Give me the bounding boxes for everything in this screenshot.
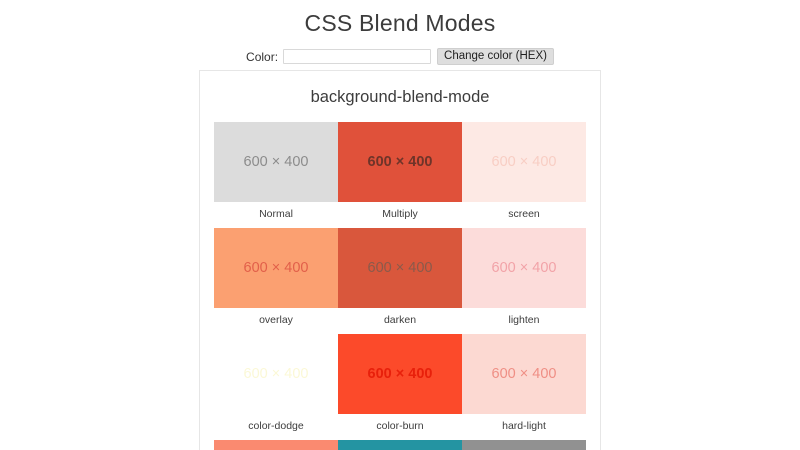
blend-row: 600 × 400 overlay 600 × 400 darken 600 ×… [214, 228, 586, 334]
swatch-clipped-3: 600 × 400 [462, 440, 586, 450]
swatch-multiply: 600 × 400 [338, 122, 462, 202]
swatch-caption-normal: Normal [214, 202, 338, 228]
swatch-caption-overlay: overlay [214, 308, 338, 334]
blend-row: 600 × 400 Normal 600 × 400 Multiply 600 … [214, 122, 586, 228]
swatch-caption-color-burn: color-burn [338, 414, 462, 440]
blend-cell-overlay: 600 × 400 overlay [214, 228, 338, 334]
swatch-clipped-2: 600 × 400 [338, 440, 462, 450]
blend-cell-normal: 600 × 400 Normal [214, 122, 338, 228]
swatch-color-dodge: 600 × 400 [214, 334, 338, 414]
swatch-caption-color-dodge: color-dodge [214, 414, 338, 440]
swatch-caption-screen: screen [462, 202, 586, 228]
swatch-color-burn: 600 × 400 [338, 334, 462, 414]
card-title: background-blend-mode [200, 71, 600, 107]
blend-cell-darken: 600 × 400 darken [338, 228, 462, 334]
blend-grid: 600 × 400 Normal 600 × 400 Multiply 600 … [200, 122, 600, 450]
swatch-caption-darken: darken [338, 308, 462, 334]
swatch-caption-hard-light: hard-light [462, 414, 586, 440]
swatch-hard-light: 600 × 400 [462, 334, 586, 414]
blend-cell-color-burn: 600 × 400 color-burn [338, 334, 462, 440]
blend-row: 600 × 400 color-dodge 600 × 400 color-bu… [214, 334, 586, 440]
blend-row-clipped: 600 × 400 600 × 400 600 × 400 [214, 440, 586, 450]
swatch-overlay: 600 × 400 [214, 228, 338, 308]
swatch-lighten: 600 × 400 [462, 228, 586, 308]
page-root: CSS Blend Modes Color: Change color (HEX… [0, 0, 800, 450]
blend-cell-multiply: 600 × 400 Multiply [338, 122, 462, 228]
blend-cell-screen: 600 × 400 screen [462, 122, 586, 228]
page-title: CSS Blend Modes [0, 0, 800, 37]
color-input[interactable] [283, 49, 431, 64]
swatch-darken: 600 × 400 [338, 228, 462, 308]
swatch-caption-multiply: Multiply [338, 202, 462, 228]
blend-cell-color-dodge: 600 × 400 color-dodge [214, 334, 338, 440]
swatch-caption-lighten: lighten [462, 308, 586, 334]
blend-cell-hard-light: 600 × 400 hard-light [462, 334, 586, 440]
blend-mode-card: background-blend-mode 600 × 400 Normal 6… [199, 70, 601, 450]
color-form: Color: Change color (HEX) [0, 48, 800, 65]
change-color-button[interactable]: Change color (HEX) [437, 48, 554, 65]
color-field-label: Color: [246, 49, 278, 65]
swatch-normal: 600 × 400 [214, 122, 338, 202]
swatch-screen: 600 × 400 [462, 122, 586, 202]
swatch-clipped-1: 600 × 400 [214, 440, 338, 450]
blend-cell-lighten: 600 × 400 lighten [462, 228, 586, 334]
